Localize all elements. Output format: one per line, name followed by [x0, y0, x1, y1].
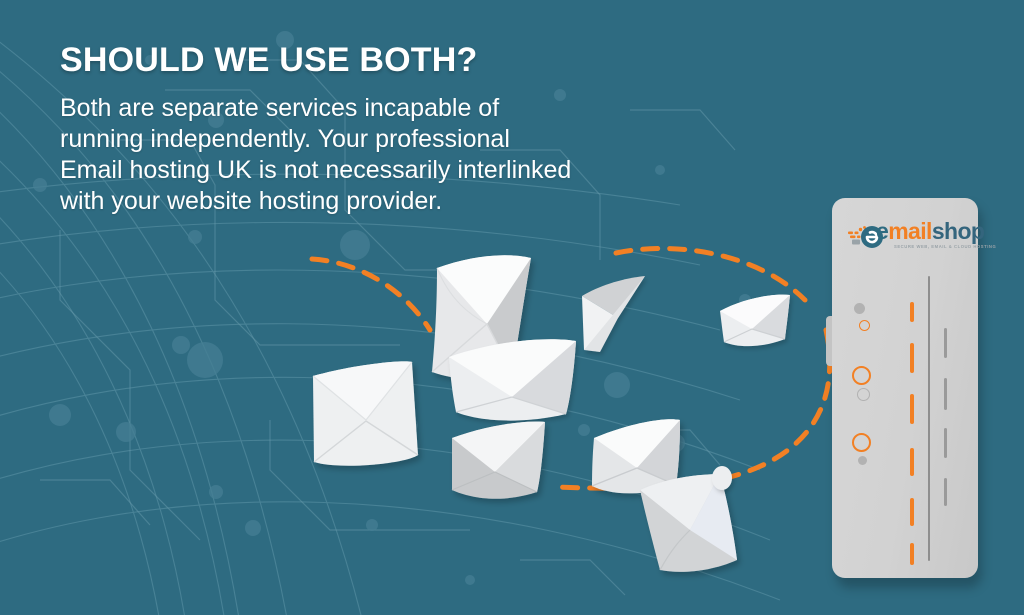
dot-oval-marker [712, 466, 732, 490]
server-body: emailshop SECURE WEB, EMAIL & CLOUD HOST… [832, 198, 978, 578]
server-spine-line [928, 276, 930, 561]
envelope-left-flat [313, 361, 418, 465]
body-paragraph: Both are separate services incapable of … [60, 93, 710, 217]
envelope-mid-open [449, 339, 576, 420]
body-line-4: with your website hosting provider. [60, 186, 710, 217]
status-bar-grey-2 [944, 378, 947, 410]
logo-word-e: e [876, 218, 888, 244]
status-bar-orange-6 [910, 543, 914, 565]
status-bar-orange-2 [910, 343, 914, 373]
led-indicator-4 [857, 388, 870, 401]
status-bar-grey-4 [944, 478, 947, 506]
led-indicator-1 [854, 303, 865, 314]
status-bar-grey-1 [944, 328, 947, 358]
text-block: SHOULD WE USE BOTH? Both are separate se… [60, 42, 710, 217]
status-bar-orange-3 [910, 394, 914, 424]
logo-wordmark: emailshop [876, 220, 984, 243]
led-indicator-2 [859, 320, 870, 331]
server-panel: emailshop SECURE WEB, EMAIL & CLOUD HOST… [826, 198, 986, 588]
logo-word-mail: mail [888, 218, 932, 244]
body-line-1: Both are separate services incapable of [60, 93, 710, 124]
body-line-3: Email hosting UK is not necessarily inte… [60, 155, 710, 186]
slide-canvas: SHOULD WE USE BOTH? Both are separate se… [0, 0, 1024, 615]
logo-tagline: SECURE WEB, EMAIL & CLOUD HOSTING [894, 244, 996, 249]
led-indicator-3 [852, 366, 871, 385]
logo-word-shop: shop [932, 218, 985, 244]
status-bar-orange-5 [910, 498, 914, 526]
emailshop-logo: emailshop SECURE WEB, EMAIL & CLOUD HOST… [848, 218, 976, 260]
status-bar-orange-1 [910, 302, 914, 322]
led-indicator-5 [852, 433, 871, 452]
body-line-2: running independently. Your professional [60, 124, 710, 155]
led-indicator-6 [858, 456, 867, 465]
status-bar-orange-4 [910, 448, 914, 476]
page-title: SHOULD WE USE BOTH? [60, 42, 710, 79]
status-bar-grey-3 [944, 428, 947, 458]
